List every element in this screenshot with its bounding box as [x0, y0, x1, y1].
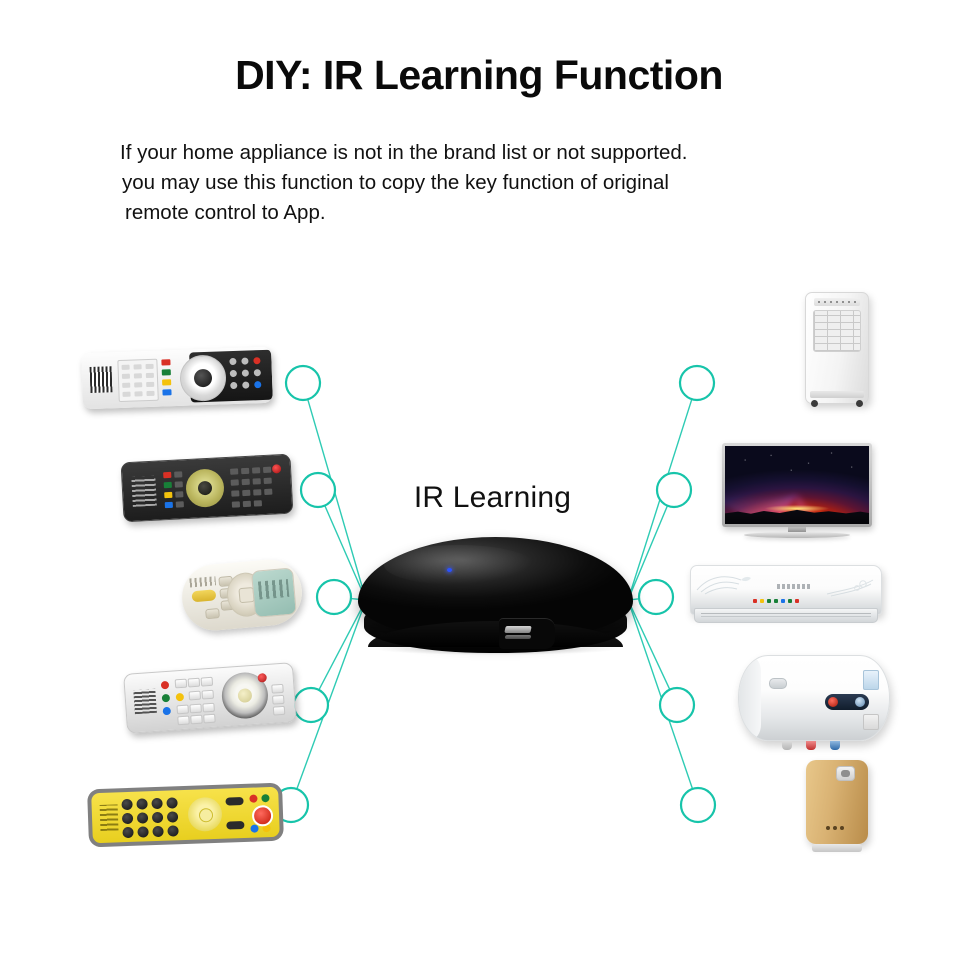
appliance-control-panel	[814, 298, 860, 306]
split-ac-brand-mark	[777, 584, 811, 589]
water-heater-control-panel	[825, 694, 869, 710]
device-tv-remote-white	[82, 350, 272, 406]
tv-screen	[725, 446, 869, 524]
remote-power-button	[191, 589, 216, 602]
remote-color-key-yellow	[164, 492, 172, 498]
remote-dpad	[187, 797, 222, 832]
hub-label: IR Learning	[330, 481, 655, 515]
remote-power-button	[252, 805, 274, 827]
connector-node-left-3	[317, 580, 351, 614]
device-television	[722, 443, 872, 538]
device-universal-remote-yellow	[88, 786, 283, 844]
air-purifier-body	[806, 760, 868, 844]
split-ac-floral-pattern	[695, 570, 765, 596]
device-portable-air-conditioner	[805, 292, 869, 404]
remote-color-key-red	[163, 472, 171, 478]
remote-mode-key-2	[226, 821, 244, 830]
remote-label-strip	[131, 476, 157, 507]
appliance-caster	[856, 400, 863, 407]
remote-color-key-green	[162, 369, 171, 375]
remote-label-strip	[90, 366, 113, 393]
status-led-icon	[447, 568, 452, 572]
micro-usb-port	[499, 618, 555, 649]
remote-power-button	[257, 673, 267, 683]
remote-color-key-green	[261, 794, 269, 802]
water-heater-sticker	[863, 714, 879, 730]
remote-color-key-blue	[250, 824, 258, 832]
connector-node-left-4	[294, 688, 328, 722]
connector-node-left-1	[286, 366, 320, 400]
water-heater-cold-pipe	[830, 741, 840, 750]
tv-stand-base	[744, 532, 850, 538]
water-heater-energy-label	[863, 670, 879, 690]
water-heater-tank	[738, 655, 890, 741]
air-purifier-base	[812, 844, 862, 852]
tv-bezel	[722, 443, 872, 527]
connector-node-right-2	[657, 473, 691, 507]
split-ac-floral-pattern-right	[813, 574, 875, 598]
remote-color-key-green	[164, 482, 172, 488]
ir-blaster-hub	[358, 537, 633, 655]
air-purifier-indicators	[826, 826, 844, 830]
hub-highlight	[384, 545, 534, 585]
remote-color-key-red	[249, 794, 257, 802]
remote-label-strip	[133, 689, 157, 714]
infographic-canvas: DIY: IR Learning Function If your home a…	[0, 0, 958, 958]
remote-color-key-red	[161, 359, 170, 365]
device-cable-remote-silver	[125, 668, 295, 728]
connector-node-right-4	[660, 688, 694, 722]
split-ac-indicator-leds	[753, 599, 799, 603]
appliance-caster	[811, 400, 818, 407]
split-ac-louver	[694, 608, 878, 623]
remote-color-key-yellow	[176, 693, 185, 702]
connector-node-right-3	[639, 580, 673, 614]
remote-label-strip	[189, 576, 216, 587]
usb-contact	[504, 626, 531, 633]
remote-color-key-blue	[165, 502, 173, 508]
device-water-heater	[738, 655, 888, 747]
remote-color-key-yellow	[162, 379, 171, 385]
water-heater-logo	[769, 678, 787, 689]
remote-color-key-blue	[163, 707, 172, 716]
remote-label-strip	[100, 804, 119, 831]
device-av-remote-black	[122, 458, 292, 518]
remote-power-button	[272, 464, 281, 473]
remote-color-key-green	[162, 694, 171, 703]
remote-dpad	[185, 468, 225, 508]
connector-node-right-5	[681, 788, 715, 822]
water-heater-end-cap	[739, 656, 761, 740]
device-air-purifier	[806, 760, 868, 852]
appliance-base	[810, 391, 864, 398]
connector-node-right-1	[680, 366, 714, 400]
remote-color-key-blue	[162, 389, 171, 395]
water-heater-pipe	[782, 741, 792, 750]
appliance-vent-grille	[813, 310, 861, 352]
remote-numeric-pad	[117, 359, 158, 402]
remote-lcd-display	[251, 567, 297, 617]
device-split-air-conditioner	[690, 565, 880, 627]
air-purifier-handle	[836, 766, 855, 781]
remote-mode-key	[225, 797, 243, 806]
device-air-conditioner-remote	[182, 562, 302, 628]
remote-color-key-red	[161, 681, 170, 690]
water-heater-hot-pipe	[806, 741, 816, 750]
usb-contact-secondary	[505, 635, 532, 639]
